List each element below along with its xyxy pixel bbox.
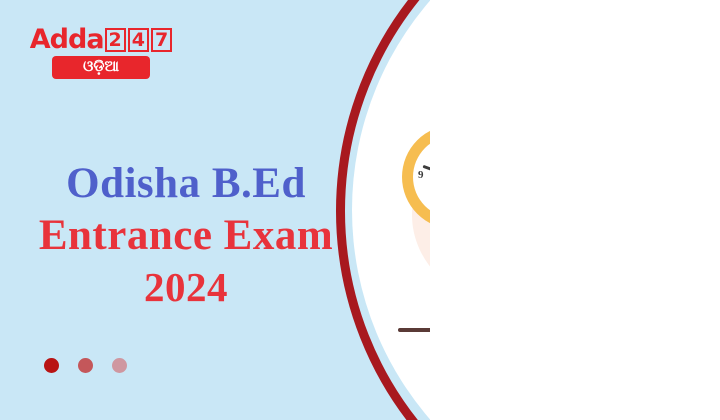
logo-digit-7: 7: [151, 28, 172, 52]
banner: 12 3 6 9: [0, 0, 720, 420]
title-line-1: Odisha B.Ed: [0, 158, 372, 210]
title-line-3: 2024: [0, 262, 372, 312]
logo-text-adda: Adda: [30, 26, 104, 53]
decorative-dots: [44, 358, 127, 373]
logo-digits: 2 4 7: [105, 28, 173, 52]
adda247-logo[interactable]: Adda 2 4 7 ଓଡ଼ିଆ: [36, 26, 166, 79]
page-title: Odisha B.Ed Entrance Exam 2024: [0, 158, 372, 312]
logo-language-badge: ଓଡ଼ିଆ: [52, 56, 150, 79]
logo-digit-2: 2: [105, 28, 126, 52]
logo-digit-4: 4: [128, 28, 149, 52]
dot-2: [78, 358, 93, 373]
dot-1: [44, 358, 59, 373]
arc-mask: [430, 0, 720, 420]
dot-3: [112, 358, 127, 373]
title-line-2: Entrance Exam: [0, 210, 372, 262]
logo-wordmark: Adda 2 4 7: [36, 26, 166, 53]
